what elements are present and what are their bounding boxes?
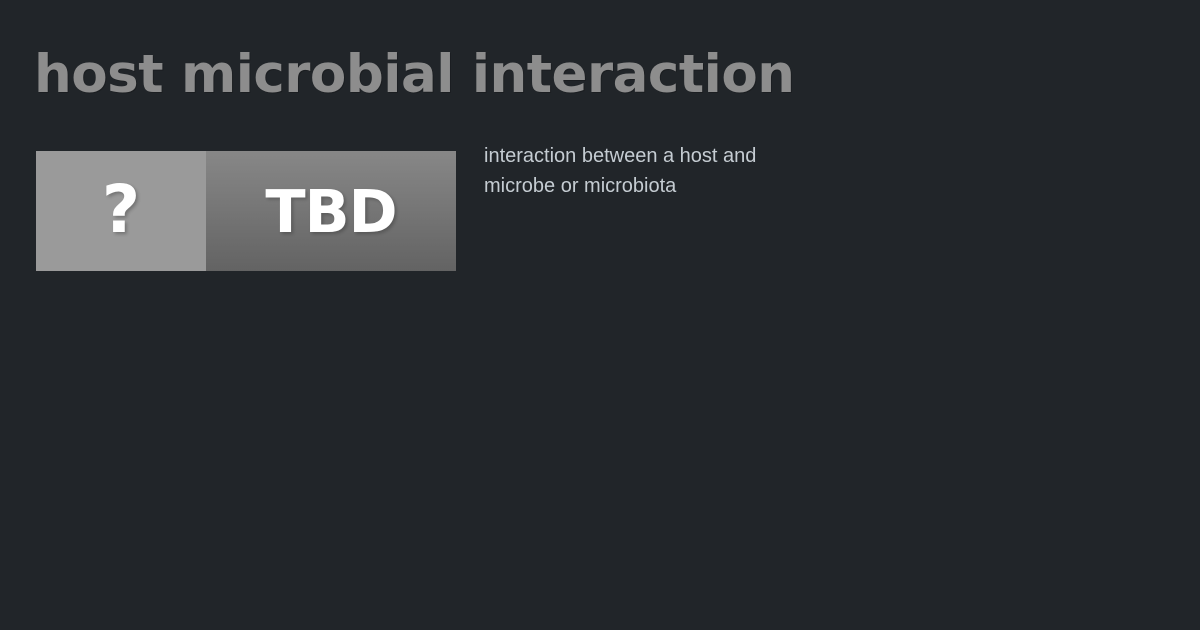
placeholder-badge-status-panel: TBD [206, 151, 456, 271]
placeholder-badge-icon-panel: ? [36, 151, 206, 271]
description-text: interaction between a host and microbe o… [484, 141, 814, 201]
status-badge: TBD [265, 182, 396, 241]
question-mark-icon: ? [102, 177, 140, 243]
page-title: host microbial interaction [34, 46, 794, 104]
placeholder-badge: ? TBD [36, 151, 456, 271]
page-root: host microbial interaction ? TBD interac… [0, 0, 1200, 630]
